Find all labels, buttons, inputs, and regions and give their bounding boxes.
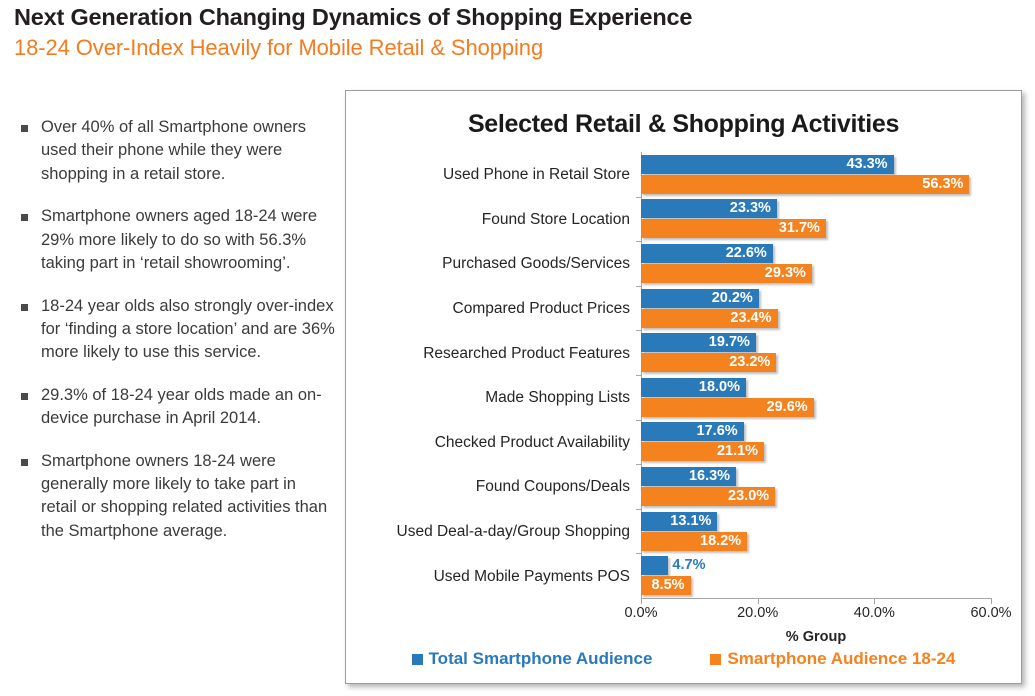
x-axis-tick-label: 40.0% — [854, 605, 895, 621]
bar-total: 19.7% — [641, 333, 756, 352]
bar-age-18-24: 29.6% — [641, 398, 814, 417]
chart-panel: Selected Retail & Shopping Activities Us… — [345, 90, 1022, 684]
chart-legend: Total Smartphone AudienceSmartphone Audi… — [346, 649, 1021, 669]
page-subtitle: 18-24 Over-Index Heavily for Mobile Reta… — [14, 35, 1014, 61]
y-axis-tick — [636, 330, 641, 331]
x-axis-title: % Group — [786, 629, 846, 645]
category-label: Used Deal-a-day/Group Shopping — [397, 524, 631, 540]
bar-value-label: 8.5% — [652, 576, 685, 595]
category-label: Researched Product Features — [423, 346, 630, 362]
x-axis-tick — [991, 598, 992, 604]
bar-value-label: 18.2% — [700, 532, 741, 551]
bar-age-18-24: 23.4% — [641, 309, 778, 328]
bar-group: Found Store Location23.3%31.7% — [641, 197, 991, 242]
bar-age-18-24: 8.5% — [641, 576, 691, 595]
category-label: Compared Product Prices — [453, 301, 630, 317]
bar-value-label: 19.7% — [709, 333, 750, 352]
bar-group: Used Mobile Payments POS4.7%8.5% — [641, 553, 991, 598]
list-item: 18-24 year olds also strongly over-index… — [16, 295, 336, 365]
y-axis-tick — [636, 241, 641, 242]
bar-value-label: 13.1% — [670, 512, 711, 531]
x-axis-tick-label: 20.0% — [737, 605, 778, 621]
page-header: Next Generation Changing Dynamics of Sho… — [14, 4, 1014, 61]
category-label: Made Shopping Lists — [485, 390, 630, 406]
category-label: Purchased Goods/Services — [442, 256, 630, 272]
bar-group: Purchased Goods/Services22.6%29.3% — [641, 241, 991, 286]
bar-group: Checked Product Availability17.6%21.1% — [641, 420, 991, 465]
bar-value-label: 29.3% — [765, 264, 806, 283]
list-item: Smartphone owners aged 18-24 were 29% mo… — [16, 205, 336, 275]
bar-age-18-24: 23.0% — [641, 487, 775, 506]
plot-inner: Used Phone in Retail Store43.3%56.3%Foun… — [641, 152, 991, 598]
bar-value-label: 56.3% — [922, 175, 963, 194]
y-axis-tick — [636, 286, 641, 287]
bullet-square-icon — [21, 459, 28, 466]
legend-swatch-icon — [412, 654, 423, 665]
list-item-text: Smartphone owners 18-24 were generally m… — [41, 450, 336, 544]
page-title: Next Generation Changing Dynamics of Sho… — [14, 4, 1014, 32]
bar-age-18-24: 29.3% — [641, 264, 812, 283]
bar-value-label: 16.3% — [689, 467, 730, 486]
bullet-square-icon — [21, 125, 28, 132]
legend-item[interactable]: Smartphone Audience 18-24 — [710, 649, 955, 669]
bullet-square-icon — [21, 304, 28, 311]
bar-group: Made Shopping Lists18.0%29.6% — [641, 375, 991, 420]
bar-age-18-24: 21.1% — [641, 442, 764, 461]
bar-total: 22.6% — [641, 244, 773, 263]
list-item-text: Smartphone owners aged 18-24 were 29% mo… — [41, 205, 336, 275]
bar-age-18-24: 31.7% — [641, 219, 826, 238]
x-axis-tick — [758, 598, 759, 604]
list-item-text: 29.3% of 18-24 year olds made an on-devi… — [41, 384, 336, 431]
bullet-square-icon — [21, 214, 28, 221]
x-axis-tick-label: 0.0% — [624, 605, 657, 621]
y-axis-tick — [636, 197, 641, 198]
bar-total: 16.3% — [641, 467, 736, 486]
category-label: Checked Product Availability — [435, 435, 630, 451]
bar-value-label: 22.6% — [726, 244, 767, 263]
legend-label: Total Smartphone Audience — [429, 649, 653, 669]
bullet-square-icon — [21, 393, 28, 400]
y-axis-tick — [636, 553, 641, 554]
bar-group: Researched Product Features19.7%23.2% — [641, 330, 991, 375]
bar-value-label: 23.2% — [729, 353, 770, 372]
bar-value-label: 23.0% — [728, 487, 769, 506]
bar-total: 23.3% — [641, 199, 777, 218]
bar-total: 13.1% — [641, 512, 717, 531]
x-axis-tick — [874, 598, 875, 604]
bar-group: Compared Product Prices20.2%23.4% — [641, 286, 991, 331]
x-axis-tick — [641, 598, 642, 604]
bar-value-label: 18.0% — [699, 378, 740, 397]
bar-value-label: 20.2% — [712, 289, 753, 308]
list-item: Over 40% of all Smartphone owners used t… — [16, 116, 336, 186]
bar-total: 18.0% — [641, 378, 746, 397]
bar-total: 20.2% — [641, 289, 759, 308]
bar-value-label: 21.1% — [717, 442, 758, 461]
x-axis-tick-label: 60.0% — [970, 605, 1011, 621]
bar-value-label: 17.6% — [697, 422, 738, 441]
legend-label: Smartphone Audience 18-24 — [727, 649, 955, 669]
category-label: Used Mobile Payments POS — [434, 569, 630, 585]
bar-total: 4.7% — [641, 556, 668, 575]
list-item-text: Over 40% of all Smartphone owners used t… — [41, 116, 336, 186]
y-axis-tick — [636, 420, 641, 421]
bar-total: 17.6% — [641, 422, 744, 441]
bar-group: Found Coupons/Deals16.3%23.0% — [641, 464, 991, 509]
y-axis-tick — [636, 375, 641, 376]
bar-value-label: 4.7% — [672, 556, 705, 575]
category-label: Used Phone in Retail Store — [443, 167, 630, 183]
list-item: Smartphone owners 18-24 were generally m… — [16, 450, 336, 544]
legend-swatch-icon — [710, 654, 721, 665]
bar-value-label: 23.3% — [730, 199, 771, 218]
bar-group: Used Deal-a-day/Group Shopping13.1%18.2% — [641, 509, 991, 554]
category-label: Found Coupons/Deals — [476, 479, 630, 495]
bar-value-label: 31.7% — [779, 219, 820, 238]
x-axis-line — [641, 598, 991, 599]
bar-group: Used Phone in Retail Store43.3%56.3% — [641, 152, 991, 197]
bar-value-label: 43.3% — [846, 155, 887, 174]
bar-value-label: 29.6% — [767, 398, 808, 417]
list-item: 29.3% of 18-24 year olds made an on-devi… — [16, 384, 336, 431]
list-item-text: 18-24 year olds also strongly over-index… — [41, 295, 336, 365]
y-axis-tick — [636, 464, 641, 465]
bar-value-label: 23.4% — [730, 309, 771, 328]
bar-age-18-24: 56.3% — [641, 175, 969, 194]
y-axis-tick — [636, 509, 641, 510]
bar-age-18-24: 23.2% — [641, 353, 776, 372]
key-findings-list: Over 40% of all Smartphone owners used t… — [16, 116, 336, 562]
legend-item[interactable]: Total Smartphone Audience — [412, 649, 653, 669]
category-label: Found Store Location — [482, 212, 630, 228]
plot-area: Used Phone in Retail Store43.3%56.3%Foun… — [346, 91, 1021, 683]
bar-total: 43.3% — [641, 155, 894, 174]
bar-age-18-24: 18.2% — [641, 532, 747, 551]
